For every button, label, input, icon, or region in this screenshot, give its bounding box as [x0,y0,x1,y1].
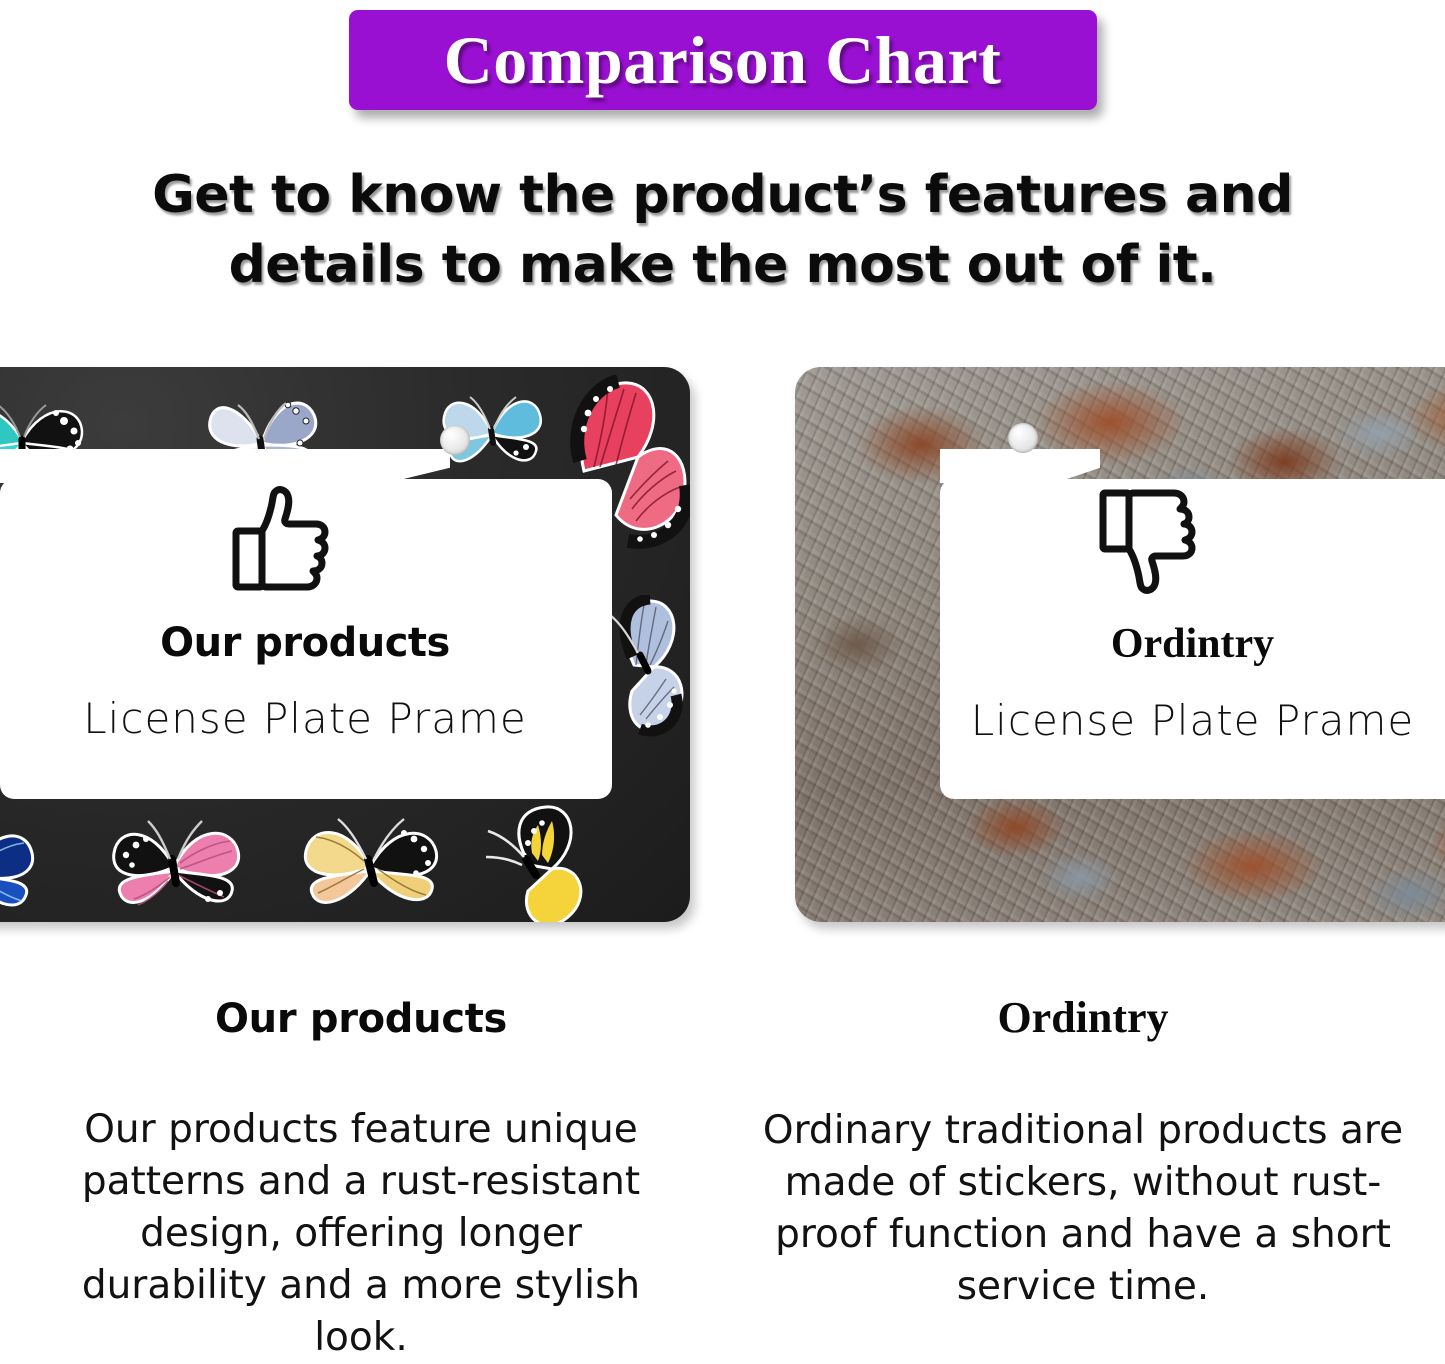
our-products-column: Our products Our products feature unique… [0,990,722,1314]
our-products-plate-labels: Our products License Plate Prame [0,620,610,743]
ordintry-bottom-heading: Ordintry [722,992,1444,1043]
subtitle: Get to know the product’s features and d… [0,160,1445,300]
plate-notch-right [940,449,1100,483]
our-products-bottom-heading: Our products [0,996,722,1042]
our-products-bottom-body: Our products feature unique patterns and… [0,1104,722,1364]
butterfly-yellowblack-icon [476,803,604,922]
page-title: Comparison Chart [444,26,1002,94]
subtitle-line-2: details to make the most out of it. [0,230,1445,300]
butterfly-pink-icon [102,815,254,922]
comparison-chart-banner: Comparison Chart [349,10,1097,110]
mounting-hole-left [440,425,470,455]
subtitle-line-1: Get to know the product’s features and [0,160,1445,230]
title-banner-container: Comparison Chart [0,10,1445,122]
ordintry-inner-heading: Ordintry [940,620,1445,668]
our-products-inner-heading: Our products [0,620,610,666]
ordintry-column: Ordintry Ordinary traditional products a… [722,990,1444,1314]
product-comparison-images: Our products License Plate Prame Ordintr… [0,345,1445,920]
ordintry-bottom-body: Ordinary traditional products are made o… [722,1105,1444,1313]
thumbs-up-icon [229,485,341,595]
plate-notch-left [0,449,450,483]
ordintry-plate-labels: Ordintry License Plate Prame [940,620,1445,745]
butterfly-royalblue-icon [0,819,48,922]
our-products-inner-subheading: License Plate Prame [0,694,610,743]
thumbs-down-icon [1096,485,1208,595]
ordintry-inner-subheading: License Plate Prame [940,696,1445,745]
comparison-description-columns: Our products Our products feature unique… [0,990,1445,1314]
mounting-hole-right [1008,423,1038,453]
butterfly-peach-icon [290,811,456,922]
